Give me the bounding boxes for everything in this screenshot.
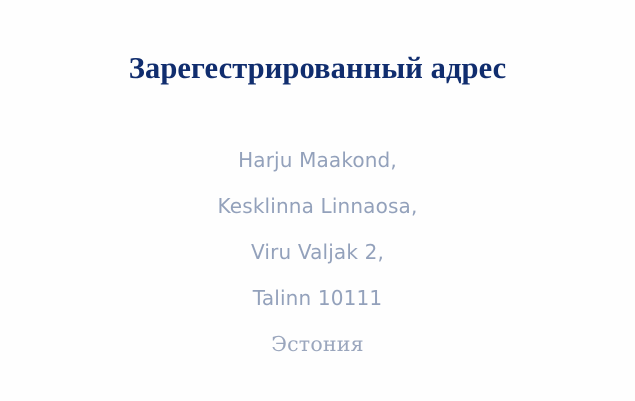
address-line-country: Эстония	[0, 321, 635, 367]
address-line-region: Harju Maakond,	[0, 137, 635, 183]
registered-address-page: Зарегестрированный адрес Harju Maakond, …	[0, 0, 635, 401]
address-line-city-postcode: Talinn 10111	[0, 275, 635, 321]
page-title: Зарегестрированный адрес	[0, 50, 635, 86]
address-line-district: Kesklinna Linnaosa,	[0, 183, 635, 229]
address-line-street: Viru Valjak 2,	[0, 229, 635, 275]
registered-address-block: Harju Maakond, Kesklinna Linnaosa, Viru …	[0, 137, 635, 367]
